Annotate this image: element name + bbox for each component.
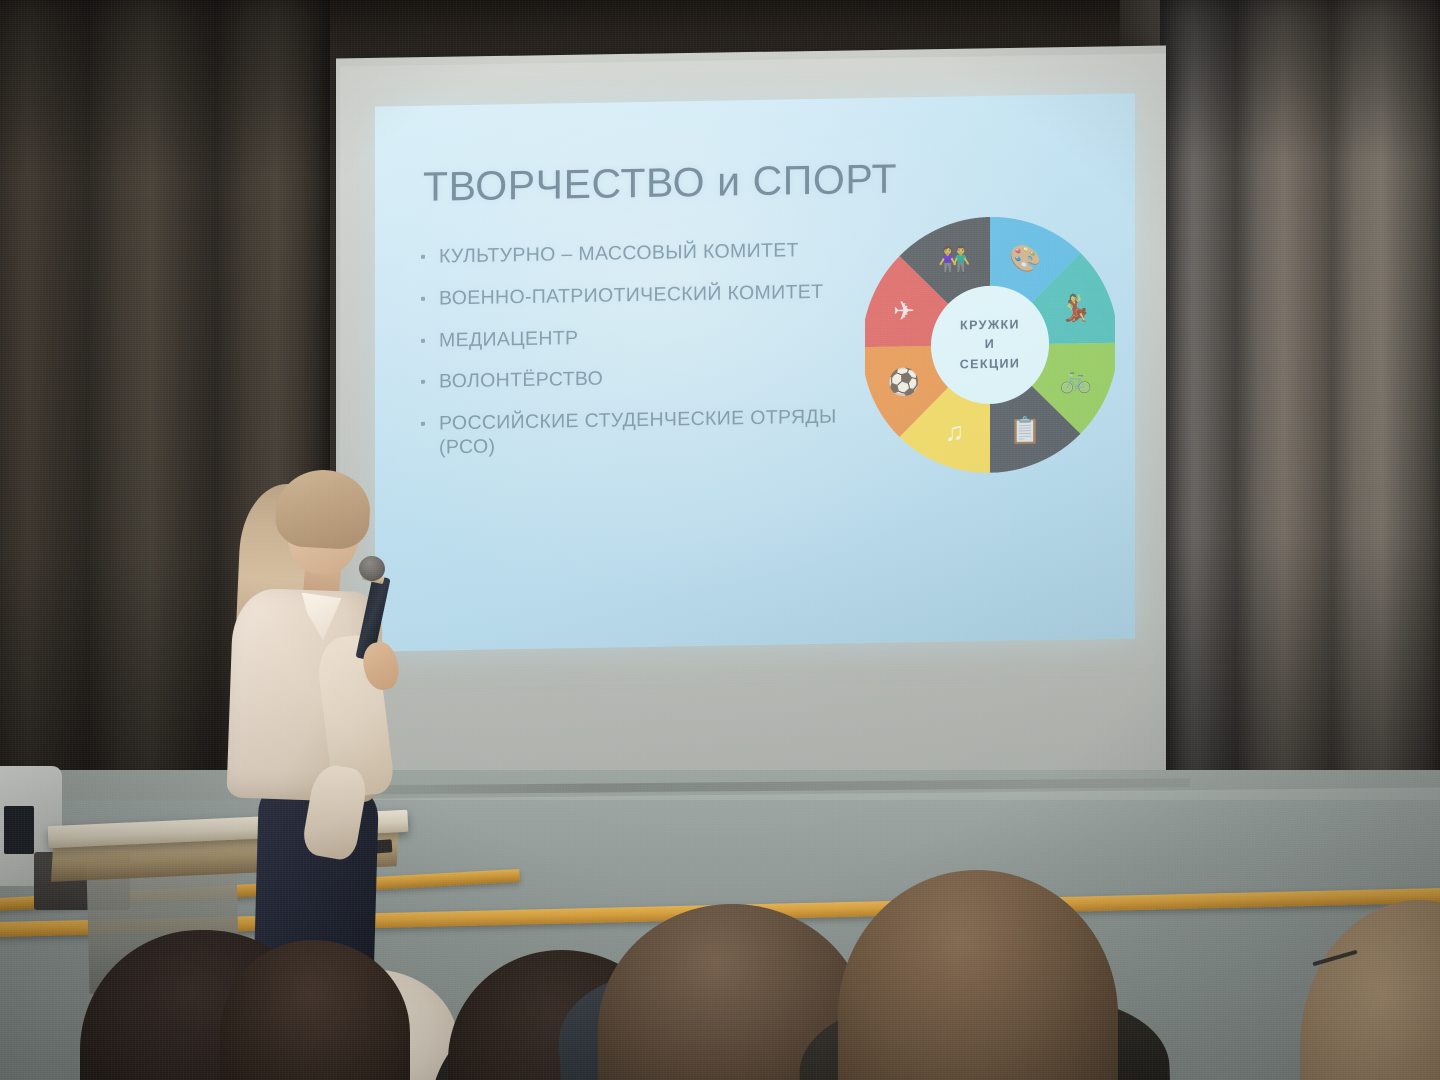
music-note-icon: ♫ xyxy=(945,416,964,446)
dancer-icon: 💃 xyxy=(1060,293,1092,325)
equipment-display-panel xyxy=(4,806,34,854)
donut-slice xyxy=(990,252,1115,345)
slide-bullet-list: КУЛЬТУРНО – МАССОВЫЙ КОМИТЕТ ВОЕННО-ПАТР… xyxy=(413,238,883,479)
donut-center-line: И xyxy=(985,335,995,355)
kruzhki-donut-chart: 🎨💃🚲📋♫⚽✈👫 КРУЖКИ И СЕКЦИИ xyxy=(865,212,1115,478)
slide-bullet: МЕДИАЦЕНТР xyxy=(413,321,883,353)
donut-center-line: КРУЖКИ xyxy=(960,315,1020,335)
donut-slice xyxy=(990,343,1081,473)
donut-slice xyxy=(990,343,1115,436)
speaker-presenter xyxy=(216,470,428,1000)
slide-bullet: РОССИЙСКИЕ СТУДЕНЧЕСКИЕ ОТРЯДЫ (РСО) xyxy=(413,405,883,461)
donut-slice xyxy=(899,217,990,347)
slide-bullet: КУЛЬТУРНО – МАССОВЫЙ КОМИТЕТ xyxy=(413,238,883,270)
donut-slice xyxy=(899,345,990,475)
projected-slide: ТВОРЧЕСТВО и СПОРТ КУЛЬТУРНО – МАССОВЫЙ … xyxy=(375,93,1135,651)
donut-center-label: КРУЖКИ И СЕКЦИИ xyxy=(865,212,1115,478)
donut-slice xyxy=(990,215,1081,345)
palette-icon: 🎨 xyxy=(1009,242,1041,274)
donut-center-line: СЕКЦИИ xyxy=(960,354,1021,374)
slide-title: ТВОРЧЕСТВО и СПОРТ xyxy=(423,156,897,211)
speaker-hair-top xyxy=(274,468,372,551)
donut-svg: 🎨💃🚲📋♫⚽✈👫 xyxy=(865,212,1115,478)
paper-plane-icon: ✈ xyxy=(893,296,915,326)
donut-slice xyxy=(865,345,990,438)
donut-hole xyxy=(931,285,1049,405)
bicycle-icon: 🚲 xyxy=(1060,364,1092,395)
slide-bullet: ВОЕННО-ПАТРИОТИЧЕСКИЙ КОМИТЕТ xyxy=(413,280,883,312)
soccer-player-icon: ⚽ xyxy=(887,367,920,398)
stage-curtain-right xyxy=(1160,0,1440,810)
donut-slice xyxy=(865,254,990,347)
lecture-board-icon: 📋 xyxy=(1009,415,1041,446)
presentation-photo: ТВОРЧЕСТВО и СПОРТ КУЛЬТУРНО – МАССОВЫЙ … xyxy=(0,0,1440,1080)
slide-bullet: ВОЛОНТЁРСТВО xyxy=(413,363,883,395)
family-icon: 👫 xyxy=(938,244,970,275)
